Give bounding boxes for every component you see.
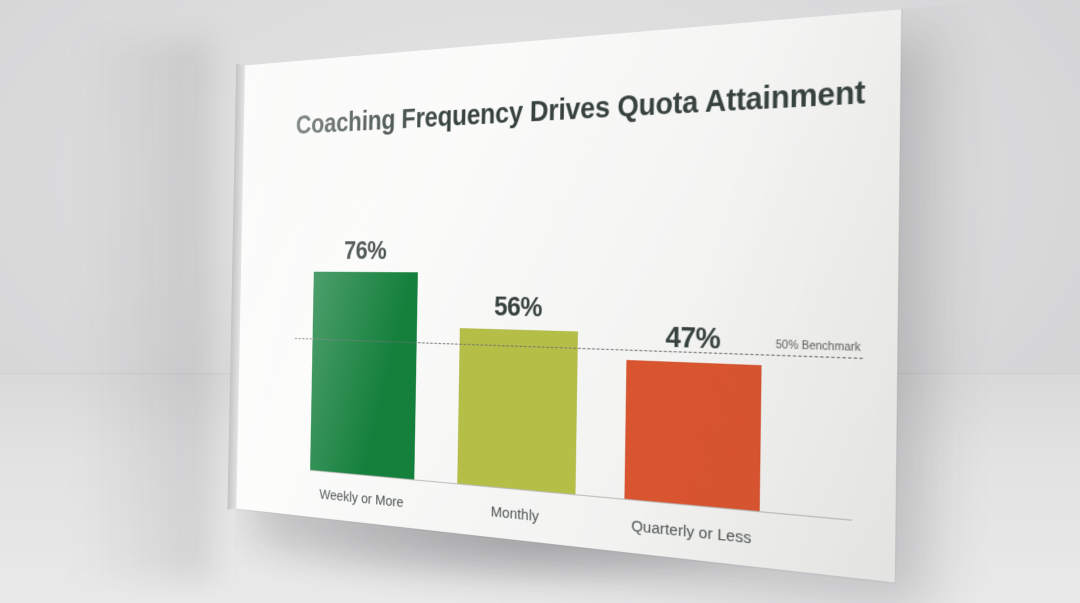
- benchmark-label: 50% Benchmark: [776, 338, 861, 354]
- bar-group: 76%Weekly or More56%Monthly47%Quarterly …: [310, 148, 836, 518]
- bar-value-label: 76%: [344, 235, 387, 265]
- studio-scene: Coaching Frequency Drives Quota Attainme…: [0, 0, 1080, 603]
- bar-rect[interactable]: [457, 328, 578, 495]
- bar-column[interactable]: 47%Quarterly or Less: [624, 151, 764, 512]
- board-wrapper: Coaching Frequency Drives Quota Attainme…: [0, 0, 1080, 603]
- board-front-face: Coaching Frequency Drives Quota Attainme…: [236, 9, 902, 582]
- chart-title: Coaching Frequency Drives Quota Attainme…: [296, 77, 837, 141]
- bar-category-label: Quarterly or Less: [631, 517, 751, 549]
- bar-value-label: 47%: [665, 320, 720, 356]
- bar-category-label: Monthly: [491, 503, 539, 526]
- bar-column[interactable]: 56%Monthly: [457, 158, 580, 495]
- bar-rect[interactable]: [310, 271, 418, 480]
- bar-rect[interactable]: [624, 360, 761, 513]
- bar-value-label: 56%: [494, 290, 543, 323]
- bar-chart: Coaching Frequency Drives Quota Attainme…: [236, 9, 902, 582]
- chart-board: Coaching Frequency Drives Quota Attainme…: [236, 9, 902, 582]
- bar-category-label: Weekly or More: [319, 486, 403, 512]
- plot-area: 76%Weekly or More56%Monthly47%Quarterly …: [289, 148, 836, 518]
- bar-column[interactable]: 76%Weekly or More: [310, 164, 420, 480]
